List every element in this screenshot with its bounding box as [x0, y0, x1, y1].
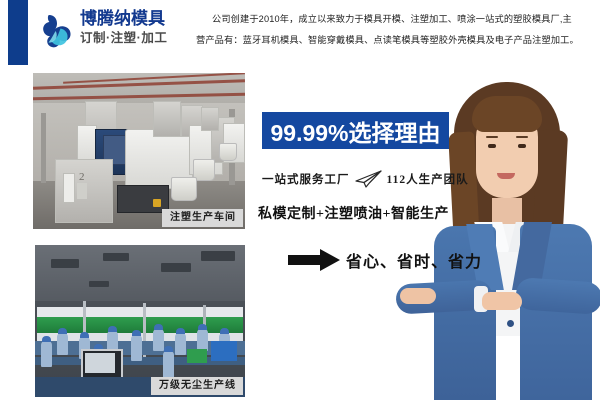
promo-benefit-row: 省心、省时、省力	[288, 248, 482, 272]
assembly-line-scene	[35, 245, 245, 397]
promo-benefit-text: 省心、省时、省力	[346, 248, 482, 272]
right-arrow-icon	[288, 249, 340, 271]
logo-tagline: 订制·注塑·加工	[80, 31, 167, 45]
company-logo[interactable]: 博腾纳模具 订制·注塑·加工	[36, 9, 188, 57]
company-intro: 公司创建于2010年，成立以来致力于模具开模、注塑加工、喷涂一站式的塑胶模具厂,…	[196, 9, 588, 51]
company-intro-line-1: 公司创建于2010年，成立以来致力于模具开模、注塑加工、喷涂一站式的塑胶模具厂,…	[196, 9, 588, 30]
company-intro-line-2: 营产品有：蓝牙耳机模具、智能穿戴模具、点读笔模具等塑胶外壳模具及电子产品注塑加工…	[196, 30, 588, 51]
header-accent-bar	[8, 0, 28, 65]
logo-wordmark: 博腾纳模具 订制·注塑·加工	[80, 9, 190, 47]
workshop-scene: 2	[33, 73, 245, 229]
promo-middle-line: 私模定制+注塑喷油+智能生产	[258, 203, 508, 223]
logo-company-name: 博腾纳模具	[80, 9, 165, 28]
droplet-leaf-logo-icon	[36, 11, 78, 55]
photo-caption: 注塑生产车间	[162, 209, 243, 227]
photo-caption: 万级无尘生产线	[151, 377, 243, 395]
promo-banner-headline: 99.99%选择理由	[262, 112, 449, 149]
promo-keyword-right: 112人生产团队	[387, 171, 469, 187]
paper-plane-icon	[353, 170, 383, 188]
promo-banner-page: 博腾纳模具 订制·注塑·加工 公司创建于2010年，成立以来致力于模具开模、注塑…	[0, 0, 600, 400]
photo-injection-workshop: 2 注塑生产车间	[33, 73, 245, 229]
photo-dustfree-assembly-line: 万级无尘生产线	[35, 245, 245, 397]
page-header: 博腾纳模具 订制·注塑·加工 公司创建于2010年，成立以来致力于模具开模、注塑…	[0, 0, 600, 66]
promo-keywords-row: 一站式服务工厂 112人生产团队	[262, 168, 477, 190]
promo-keyword-left: 一站式服务工厂	[262, 171, 350, 187]
